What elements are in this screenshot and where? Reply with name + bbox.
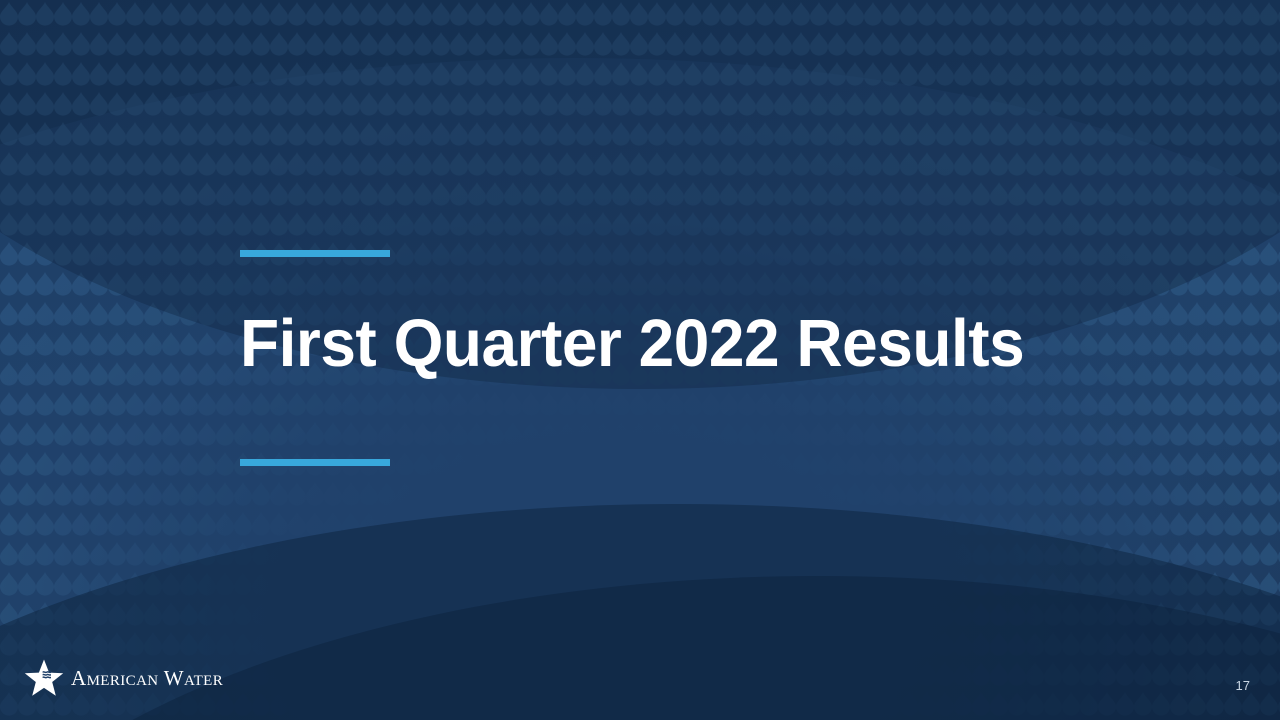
- logo-wordmark: American Water: [71, 668, 223, 689]
- accent-bar-top: [240, 250, 390, 257]
- slide-content: First Quarter 2022 Results American Wate…: [0, 0, 1280, 720]
- slide-title: First Quarter 2022 Results: [240, 310, 1100, 377]
- accent-bar-bottom: [240, 459, 390, 466]
- title-slide: First Quarter 2022 Results American Wate…: [0, 0, 1280, 720]
- slide-number: 17: [1236, 679, 1250, 692]
- american-water-logo: American Water: [24, 660, 223, 696]
- star-icon: [24, 659, 64, 697]
